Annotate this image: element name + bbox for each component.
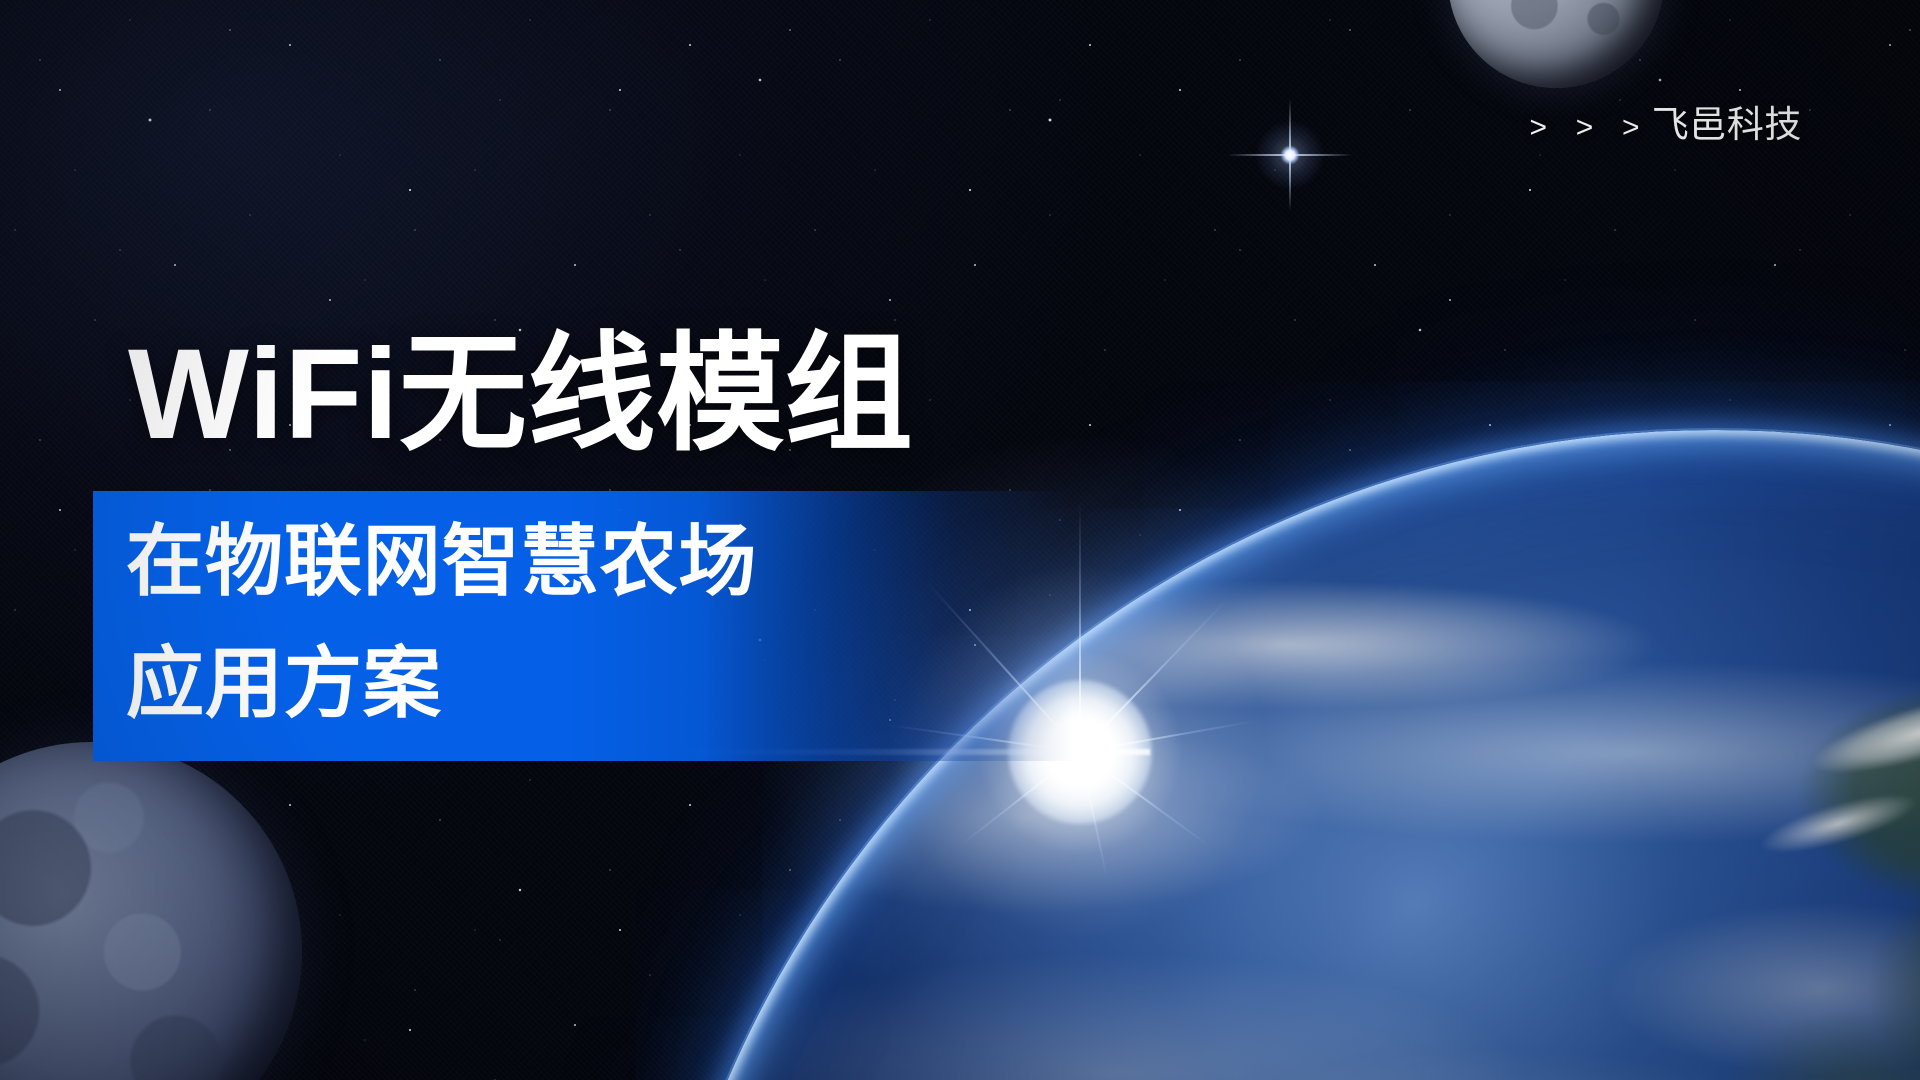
chevron-right-icon: > > > [1530,113,1650,143]
brand-name-label: 飞邑科技 [1652,106,1802,143]
brand-logo[interactable]: > > > 飞邑科技 [1530,106,1802,143]
sparkle-star-core [1281,146,1299,164]
subtitle-line-2: 应用方案 [126,622,758,744]
subtitle-line-1: 在物联网智慧农场 [126,500,758,622]
poster-slide: > > > 飞邑科技 WiFi无线模组 在物联网智慧农场 应用方案 [0,0,1920,1080]
subtitle-text: 在物联网智慧农场 应用方案 [126,500,758,745]
page-title: WiFi无线模组 [128,326,913,464]
